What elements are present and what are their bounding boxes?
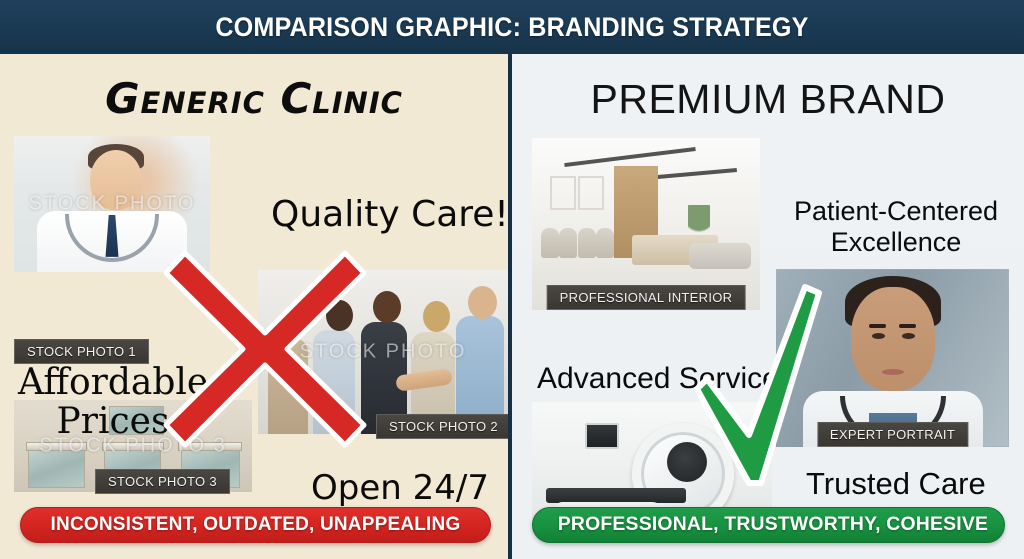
portrait-eye-right (902, 333, 915, 339)
text-quality-care: Quality Care! (271, 194, 509, 235)
wall-frame-1 (550, 176, 576, 210)
text-trusted-care: Trusted Care (806, 466, 986, 502)
photo-stock-1-doctor: STOCK PHOTO (14, 136, 210, 272)
text-affordable-prices: Affordable Prices (18, 364, 208, 442)
ct-scanner-monitor (585, 423, 619, 449)
photo-caption-stock-1: STOCK PHOTO 1 (14, 339, 149, 364)
building-awning-1 (26, 442, 88, 451)
negative-banner: INCONSISTENT, OUTDATED, UNAPPEALING (20, 507, 491, 543)
photo-caption-stock-2: STOCK PHOTO 2 (376, 414, 511, 439)
positive-banner-label: PROFESSIONAL, TRUSTWORTHY, COHESIVE (557, 514, 987, 536)
photo-caption-stock-3: STOCK PHOTO 3 (95, 469, 230, 494)
group-person-1 (268, 338, 308, 434)
group-head-3 (373, 291, 401, 323)
building-awning-2 (102, 442, 164, 451)
wall-frame-2 (578, 176, 604, 210)
group-head-2 (326, 300, 353, 331)
building-window-1 (28, 450, 85, 489)
right-panel-heading: PREMIUM BRAND (512, 76, 1024, 123)
portrait-eye-left (872, 333, 885, 339)
portrait-face (851, 287, 935, 391)
comparison-graphic: COMPARISON GRAPHIC: BRANDING STRATEGY Ge… (0, 0, 1024, 559)
text-patient-centered-excellence: Patient-Centered Excellence (789, 196, 1003, 258)
panel-premium-brand: PREMIUM BRAND PROFESSIONAL INTERIOR (511, 54, 1024, 559)
photo-caption-interior: PROFESSIONAL INTERIOR (547, 285, 746, 310)
photo-stock-2-handshake: STOCK PHOTO (258, 270, 508, 434)
page-title: COMPARISON GRAPHIC: BRANDING STRATEGY (215, 12, 808, 43)
header-bar: COMPARISON GRAPHIC: BRANDING STRATEGY (0, 0, 1024, 54)
panels-container: Generic Clinic STOCK PHOTO STOCK PHOTO 1 (0, 54, 1024, 559)
building-awning-3 (178, 442, 242, 451)
text-advanced-services: Advanced Services (537, 362, 794, 396)
waiting-chair-2 (559, 228, 577, 258)
text-open-hours: Open 24/7 (311, 468, 489, 508)
negative-banner-label: INCONSISTENT, OUTDATED, UNAPPEALING (51, 514, 461, 536)
ceiling-beam-2 (646, 168, 737, 180)
waiting-chair-1 (541, 228, 559, 258)
waiting-chair-4 (596, 228, 614, 258)
waiting-sofa (689, 243, 751, 269)
group-head-5 (468, 286, 497, 319)
group-head-4 (423, 301, 450, 332)
group-head-1 (281, 306, 307, 336)
potted-plant (688, 205, 710, 241)
left-panel-heading: Generic Clinic (0, 74, 508, 123)
photo-caption-portrait: EXPERT PORTRAIT (817, 422, 968, 447)
ceiling-beam-1 (564, 147, 696, 167)
waiting-chair-3 (578, 228, 596, 258)
panel-generic-clinic: Generic Clinic STOCK PHOTO STOCK PHOTO 1 (0, 54, 511, 559)
doctor-head (90, 150, 142, 210)
portrait-lips (882, 369, 904, 375)
positive-banner: PROFESSIONAL, TRUSTWORTHY, COHESIVE (532, 507, 1005, 543)
photo-professional-interior: PROFESSIONAL INTERIOR (532, 138, 760, 310)
group-person-2 (313, 330, 355, 434)
photo-expert-portrait: EXPERT PORTRAIT (776, 269, 1009, 447)
portrait-brow-left (869, 324, 886, 328)
portrait-brow-right (899, 324, 916, 328)
